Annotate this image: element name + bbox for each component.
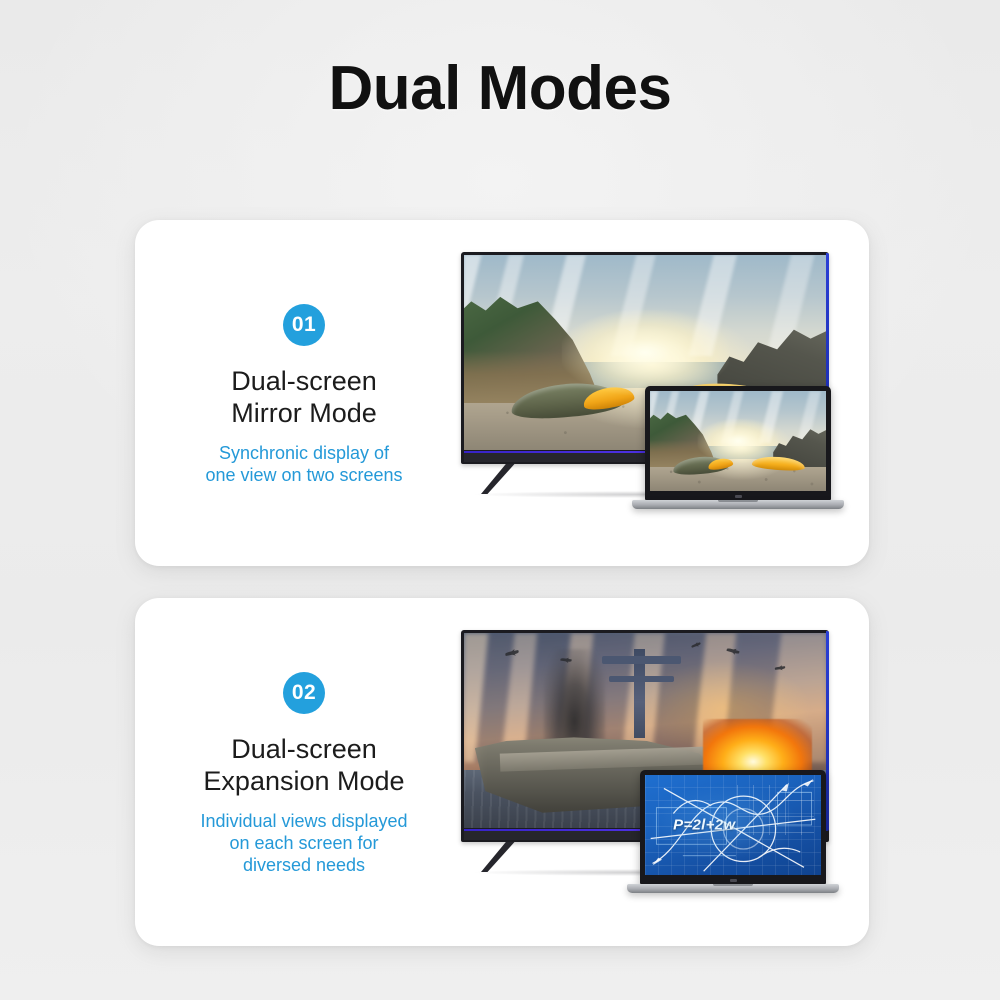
mode-card-expansion: 02 Dual-screen Expansion Mode Individual… (135, 598, 869, 946)
mode-subtitle: Synchronic display of one view on two sc… (205, 442, 402, 486)
step-badge-02: 02 (283, 672, 325, 714)
card-illustration-mirror (455, 220, 869, 566)
laptop-device (645, 386, 831, 509)
step-badge-01: 01 (283, 304, 325, 346)
card-illustration-expansion: P=2l+2w (455, 598, 869, 946)
laptop-screen-blueprint: P=2l+2w (645, 775, 821, 875)
beach-sunset-artwork-mirror (650, 391, 826, 491)
tv-leg-left (481, 464, 535, 494)
mode-heading: Dual-screen Mirror Mode (231, 366, 377, 430)
page-title: Dual Modes (0, 58, 1000, 120)
mode-heading: Dual-screen Expansion Mode (203, 734, 404, 798)
plane-icon (692, 642, 702, 648)
card-text-column: 02 Dual-screen Expansion Mode Individual… (135, 598, 455, 946)
laptop-base (632, 500, 844, 509)
plane-icon (505, 649, 519, 655)
plane-icon (774, 666, 785, 670)
mode-card-mirror: 01 Dual-screen Mirror Mode Synchronic di… (135, 220, 869, 566)
laptop-device: P=2l+2w (640, 770, 826, 893)
plane-icon (726, 647, 739, 654)
laptop-screen-beach (650, 391, 826, 491)
tv-leg-left (481, 842, 535, 872)
blueprint-math-artwork: P=2l+2w (645, 775, 821, 875)
card-text-column: 01 Dual-screen Mirror Mode Synchronic di… (135, 220, 455, 566)
screen-glow (645, 775, 821, 875)
mode-subtitle: Individual views displayed on each scree… (200, 810, 407, 876)
laptop-lid: P=2l+2w (640, 770, 826, 884)
laptop-lid (645, 386, 831, 500)
plane-icon (560, 658, 571, 662)
laptop-base (627, 884, 839, 893)
